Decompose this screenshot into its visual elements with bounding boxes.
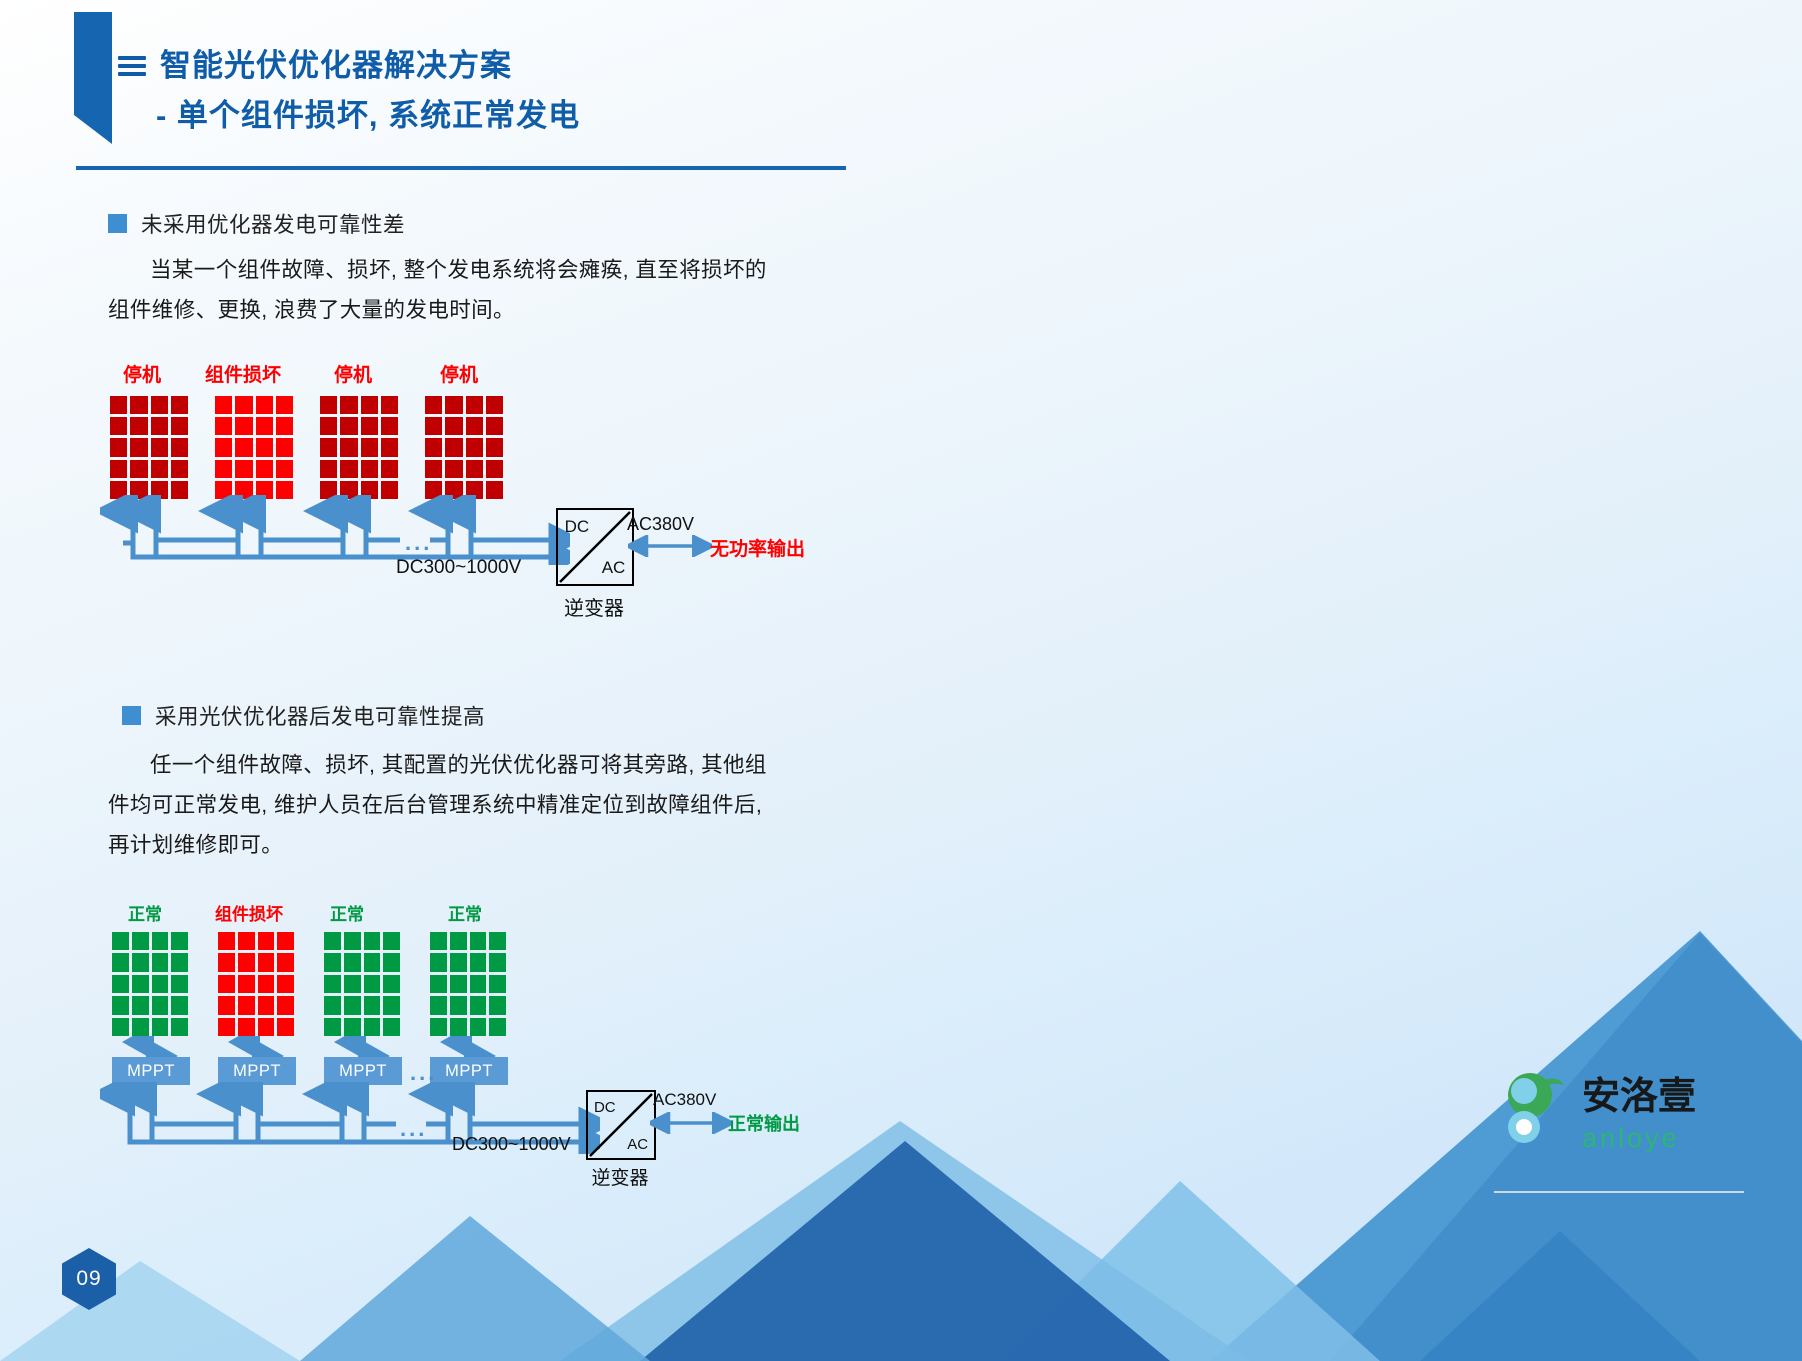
solar-cell — [276, 417, 293, 435]
page-subtitle: - 单个组件损坏, 系统正常发电 — [156, 98, 918, 134]
solar-cell — [132, 996, 149, 1014]
solar-cell — [466, 438, 483, 456]
solar-cell — [276, 396, 293, 414]
solar-cell — [320, 396, 337, 414]
section1-wire-ellipsis: ... — [405, 530, 432, 556]
solar-cell — [425, 460, 442, 478]
solar-cell — [445, 438, 462, 456]
mppt-box-1[interactable]: MPPT — [112, 1057, 190, 1085]
inverter-2-dc-label: DC — [594, 1099, 616, 1116]
solar-cell — [340, 438, 357, 456]
solar-cell — [171, 460, 188, 478]
solar-cell — [132, 1018, 149, 1036]
logo-graphic-icon: 安洛壹 anloye — [1494, 1065, 1744, 1161]
section2-paragraph-line3: 再计划维修即可。 — [108, 833, 283, 857]
solar-cell — [151, 460, 168, 478]
solar-cell — [110, 417, 127, 435]
solar-cell — [340, 396, 357, 414]
solar-cell — [445, 396, 462, 414]
panel1-label-4: 停机 — [440, 360, 478, 387]
solar-panel-opt-2 — [218, 932, 294, 1036]
solar-cell — [258, 975, 275, 993]
solar-cell — [235, 438, 252, 456]
solar-cell — [110, 460, 127, 478]
solar-cell — [258, 1018, 275, 1036]
section1-heading-label: 未采用优化器发电可靠性差 — [141, 208, 405, 239]
solar-cell — [489, 996, 506, 1014]
solar-cell — [238, 975, 255, 993]
solar-cell — [256, 460, 273, 478]
section1-heading: 未采用优化器发电可靠性差 — [108, 208, 405, 239]
solar-cell — [364, 953, 381, 971]
solar-cell — [430, 953, 447, 971]
solar-cell — [112, 975, 129, 993]
solar-cell — [450, 975, 467, 993]
solar-cell — [470, 932, 487, 950]
solar-cell — [276, 438, 293, 456]
solar-cell — [218, 1018, 235, 1036]
solar-cell — [324, 932, 341, 950]
page-number: 09 — [76, 1267, 101, 1291]
solar-cell — [364, 1018, 381, 1036]
solar-panel-opt-3 — [324, 932, 400, 1036]
bullet-square-icon-2 — [122, 706, 141, 725]
solar-cell — [324, 975, 341, 993]
solar-cell — [430, 1018, 447, 1036]
solar-cell — [238, 996, 255, 1014]
solar-cell — [151, 438, 168, 456]
solar-cell — [258, 996, 275, 1014]
section2-output-arrow — [650, 1112, 732, 1134]
section1-dc-label: DC300~1000V — [396, 557, 521, 579]
solar-cell — [235, 417, 252, 435]
solar-cell — [364, 975, 381, 993]
solar-cell — [324, 996, 341, 1014]
solar-cell — [238, 932, 255, 950]
solar-cell — [383, 953, 400, 971]
mppt-label-1: MPPT — [127, 1062, 175, 1081]
solar-cell — [215, 396, 232, 414]
solar-cell — [171, 932, 188, 950]
solar-cell — [344, 975, 361, 993]
section2-output-label: 正常输出 — [728, 1110, 800, 1136]
solar-cell — [381, 460, 398, 478]
solar-cell — [238, 953, 255, 971]
solar-cell — [340, 460, 357, 478]
solar-cell — [486, 460, 503, 478]
svg-text:anloye: anloye — [1582, 1123, 1680, 1153]
solar-panel-3 — [320, 396, 398, 499]
bullet-square-icon — [108, 214, 127, 233]
inverter-1: DC AC — [556, 508, 634, 586]
solar-cell — [218, 953, 235, 971]
solar-cell — [171, 1018, 188, 1036]
section2-ac-label: AC380V — [653, 1090, 716, 1110]
solar-cell — [151, 396, 168, 414]
section2-paragraph-line2: 件均可正常发电, 维护人员在后台管理系统中精准定位到故障组件后, — [108, 793, 762, 817]
solar-cell — [324, 1018, 341, 1036]
solar-cell — [215, 460, 232, 478]
solar-cell — [425, 417, 442, 435]
section1-paragraph-line1: 当某一个组件故障、损坏, 整个发电系统将会瘫痪, 直至将损坏的 — [150, 258, 767, 282]
section1-paragraph-line2: 组件维修、更换, 浪费了大量的发电时间。 — [108, 298, 515, 322]
solar-cell — [320, 460, 337, 478]
mppt-label-3: MPPT — [339, 1062, 387, 1081]
solar-cell — [470, 975, 487, 993]
solar-cell — [235, 396, 252, 414]
solar-panel-opt-4 — [430, 932, 506, 1036]
solar-cell — [276, 460, 293, 478]
solar-cell — [277, 953, 294, 971]
solar-panel-4 — [425, 396, 503, 499]
solar-cell — [361, 460, 378, 478]
solar-cell — [489, 932, 506, 950]
inverter-1-dc-label: DC — [565, 517, 590, 537]
panel1-label-3: 停机 — [334, 360, 372, 387]
inverter-1-caption: 逆变器 — [548, 592, 640, 621]
panel2-label-3: 正常 — [330, 900, 364, 925]
solar-cell — [171, 996, 188, 1014]
section2-dc-label: DC300~1000V — [452, 1134, 571, 1155]
solar-cell — [130, 417, 147, 435]
mppt-box-4[interactable]: MPPT — [430, 1057, 508, 1085]
solar-cell — [470, 996, 487, 1014]
solar-cell — [364, 996, 381, 1014]
solar-cell — [381, 438, 398, 456]
solar-cell — [320, 417, 337, 435]
solar-cell — [132, 975, 149, 993]
solar-cell — [381, 396, 398, 414]
section2-heading-label: 采用光伏优化器后发电可靠性提高 — [155, 700, 485, 731]
solar-cell — [152, 953, 169, 971]
solar-cell — [344, 996, 361, 1014]
solar-cell — [215, 417, 232, 435]
solar-cell — [383, 996, 400, 1014]
solar-cell — [430, 932, 447, 950]
solar-cell — [130, 438, 147, 456]
section1-paragraph: 当某一个组件故障、损坏, 整个发电系统将会瘫痪, 直至将损坏的 组件维修、更换,… — [108, 250, 828, 330]
solar-cell — [445, 460, 462, 478]
solar-cell — [112, 953, 129, 971]
panel1-label-1: 停机 — [123, 360, 161, 387]
solar-cell — [486, 417, 503, 435]
solar-cell — [470, 1018, 487, 1036]
solar-cell — [171, 953, 188, 971]
solar-cell — [470, 953, 487, 971]
solar-cell — [450, 953, 467, 971]
mppt-label-2: MPPT — [233, 1062, 281, 1081]
solar-cell — [277, 1018, 294, 1036]
company-logo: 安洛壹 anloye — [1494, 1065, 1744, 1161]
solar-cell — [218, 932, 235, 950]
panel2-label-1: 正常 — [128, 900, 162, 925]
solar-cell — [383, 932, 400, 950]
solar-cell — [324, 953, 341, 971]
inverter-2-ac-label: AC — [627, 1136, 648, 1153]
solar-cell — [486, 438, 503, 456]
solar-cell — [361, 396, 378, 414]
solar-cell — [430, 996, 447, 1014]
section2-wire-ellipsis: ... — [400, 1116, 427, 1142]
solar-cell — [364, 932, 381, 950]
solar-cell — [130, 460, 147, 478]
solar-panel-opt-1 — [112, 932, 188, 1036]
solar-cell — [110, 396, 127, 414]
solar-cell — [256, 417, 273, 435]
mppt-label-4: MPPT — [445, 1062, 493, 1081]
solar-cell — [171, 396, 188, 414]
solar-cell — [425, 396, 442, 414]
inverter-2-caption: 逆变器 — [575, 1163, 665, 1190]
solar-cell — [152, 996, 169, 1014]
solar-cell — [112, 996, 129, 1014]
solar-cell — [340, 417, 357, 435]
solar-cell — [112, 1018, 129, 1036]
solar-cell — [344, 1018, 361, 1036]
solar-cell — [450, 996, 467, 1014]
solar-cell — [450, 932, 467, 950]
solar-cell — [152, 975, 169, 993]
section1-wiring — [100, 495, 570, 565]
panel2-label-2: 组件损坏 — [215, 900, 283, 925]
solar-cell — [152, 932, 169, 950]
section2-paragraph: 任一个组件故障、损坏, 其配置的光伏优化器可将其旁路, 其他组 件均可正常发电,… — [108, 745, 838, 865]
solar-cell — [235, 460, 252, 478]
section1-ac-label: AC380V — [627, 514, 694, 535]
solar-cell — [152, 1018, 169, 1036]
page-title: 智能光伏优化器解决方案 — [160, 48, 512, 84]
panel2-label-4: 正常 — [448, 900, 482, 925]
title-divider — [76, 166, 846, 170]
solar-cell — [383, 975, 400, 993]
solar-cell — [218, 975, 235, 993]
solar-cell — [171, 438, 188, 456]
solar-cell — [277, 975, 294, 993]
header-accent-bar — [74, 12, 112, 144]
solar-cell — [258, 953, 275, 971]
section2-paragraph-line1: 任一个组件故障、损坏, 其配置的光伏优化器可将其旁路, 其他组 — [150, 753, 767, 777]
solar-cell — [151, 417, 168, 435]
inverter-1-ac-label: AC — [602, 558, 626, 578]
section2-heading: 采用光伏优化器后发电可靠性提高 — [122, 700, 485, 731]
solar-cell — [132, 953, 149, 971]
solar-cell — [466, 417, 483, 435]
solar-panel-2 — [215, 396, 293, 499]
solar-cell — [489, 1018, 506, 1036]
solar-cell — [110, 438, 127, 456]
solar-cell — [344, 953, 361, 971]
solar-cell — [277, 932, 294, 950]
solar-cell — [489, 953, 506, 971]
solar-cell — [486, 396, 503, 414]
solar-cell — [130, 396, 147, 414]
solar-cell — [171, 975, 188, 993]
solar-cell — [466, 396, 483, 414]
logo-divider — [1494, 1191, 1744, 1193]
solar-cell — [132, 932, 149, 950]
solar-cell — [238, 1018, 255, 1036]
solar-cell — [466, 460, 483, 478]
solar-cell — [425, 438, 442, 456]
solar-cell — [320, 438, 337, 456]
slide-page: 智能光伏优化器解决方案 - 单个组件损坏, 系统正常发电 未采用优化器发电可靠性… — [0, 0, 1802, 1361]
solar-cell — [361, 438, 378, 456]
solar-cell — [215, 438, 232, 456]
solar-cell — [171, 417, 188, 435]
section1-output-arrow — [628, 535, 712, 557]
inverter-2: DC AC — [586, 1090, 656, 1160]
solar-cell — [381, 417, 398, 435]
solar-cell — [430, 975, 447, 993]
solar-cell — [445, 417, 462, 435]
solar-cell — [218, 996, 235, 1014]
hamburger-icon — [118, 54, 146, 78]
solar-cell — [489, 975, 506, 993]
solar-cell — [344, 932, 361, 950]
solar-cell — [383, 1018, 400, 1036]
solar-cell — [361, 417, 378, 435]
section1-output-label: 无功率输出 — [710, 534, 805, 561]
solar-cell — [112, 932, 129, 950]
page-title-block: 智能光伏优化器解决方案 - 单个组件损坏, 系统正常发电 — [118, 48, 918, 133]
mppt-box-2[interactable]: MPPT — [218, 1057, 296, 1085]
svg-text:安洛壹: 安洛壹 — [1582, 1076, 1696, 1118]
solar-cell — [256, 396, 273, 414]
panel1-label-2: 组件损坏 — [205, 360, 281, 387]
solar-cell — [277, 996, 294, 1014]
solar-cell — [256, 438, 273, 456]
solar-cell — [258, 932, 275, 950]
solar-panel-1 — [110, 396, 188, 499]
mppt-box-3[interactable]: MPPT — [324, 1057, 402, 1085]
solar-cell — [450, 1018, 467, 1036]
